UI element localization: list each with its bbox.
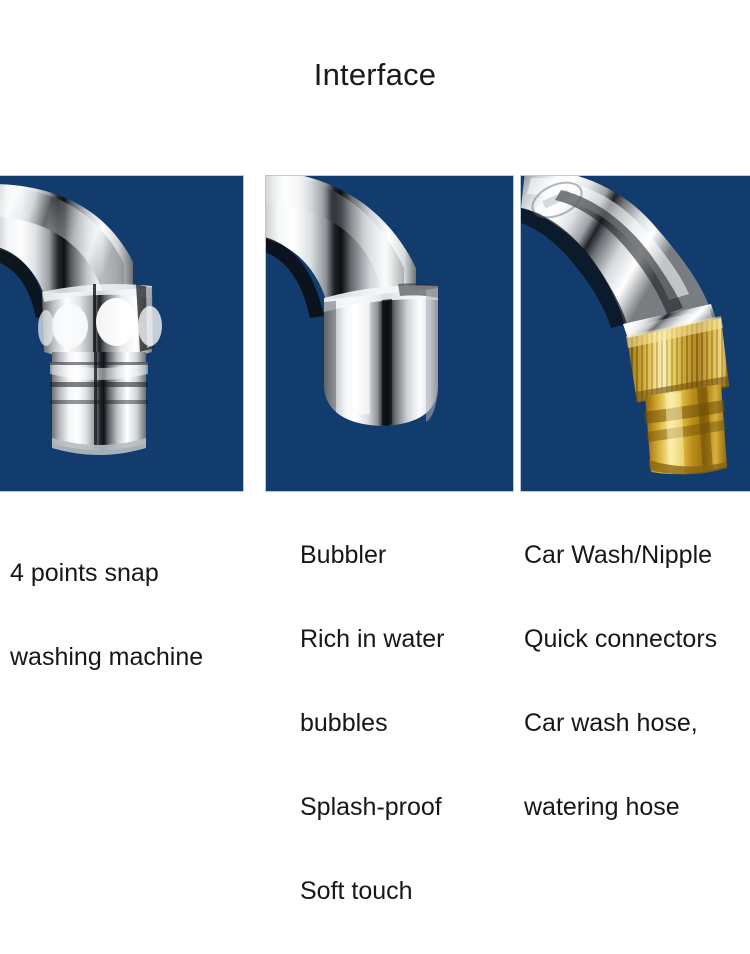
panel-bubbler [265,175,514,492]
panel-row [0,175,750,492]
caption-line: watering hose [524,786,750,828]
panel-car-wash-nipple [520,175,750,492]
caption-row: 4 points snap washing machine Bubbler Ri… [0,492,750,750]
caption-line: Soft touch [300,870,530,912]
faucet-four-point-snap-image [0,176,243,491]
caption-line: Car Wash/Nipple [524,534,750,576]
caption-line: Quick connectors [524,618,750,660]
product-info-page: Interface [0,0,750,750]
caption-car-wash-nipple: Car Wash/Nipple Quick connectors Car was… [524,492,750,870]
caption-line: Rich in water [300,618,530,660]
panel-separator-1 [244,175,265,492]
faucet-bubbler-image [266,176,513,491]
caption-line: bubbles [300,702,530,744]
caption-line: Splash-proof [300,786,530,828]
panel-4-point-snap [0,175,244,492]
caption-line: washing machine [10,636,260,678]
faucet-quick-connect-nipple-image [521,176,750,491]
caption-bubbler: Bubbler Rich in water bubbles Splash-pro… [300,492,530,954]
caption-line: Bubbler [300,534,530,576]
caption-line: Car wash hose, [524,702,750,744]
caption-line: 4 points snap [10,552,260,594]
caption-4-point-snap: 4 points snap washing machine [10,510,260,720]
page-title: Interface [0,57,750,93]
